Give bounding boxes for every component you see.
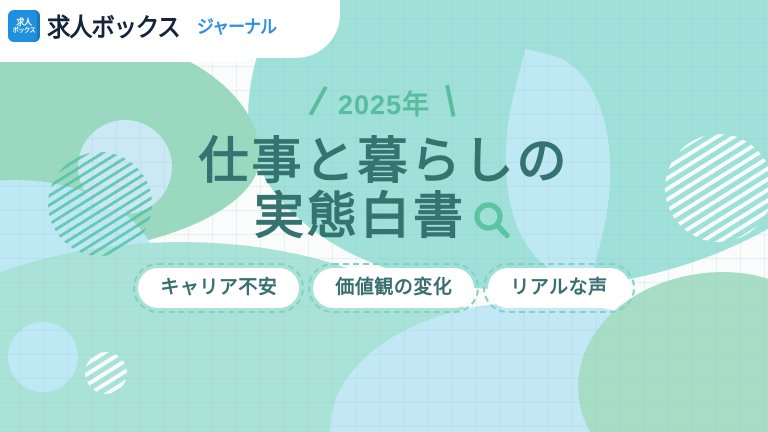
slash-right-decoration: /: [439, 80, 462, 123]
tag-chip-3[interactable]: リアルな声: [488, 268, 629, 308]
tag-chip-2[interactable]: 価値観の変化: [313, 268, 474, 308]
year-label: 2025年: [338, 83, 430, 122]
tag-row: キャリア不安 価値観の変化 リアルな声: [138, 268, 629, 308]
year-row: / 2025年 /: [313, 84, 456, 120]
hero-title-line-1: 仕事と暮らしの: [199, 134, 570, 189]
hero-content: / 2025年 / 仕事と暮らしの 実態白書 キャリア不安 価値観の変化 リアル…: [0, 0, 768, 432]
hero-title: 仕事と暮らしの 実態白書: [199, 134, 570, 244]
tag-chip-1[interactable]: キャリア不安: [138, 268, 299, 308]
magnifier-icon: [470, 199, 514, 243]
hero-title-line-2-row: 実態白書: [199, 189, 570, 244]
slash-left-decoration: /: [306, 80, 329, 123]
banner-canvas: 求人 ボックス 求人ボックス ジャーナル / 2025年 / 仕事と暮らしの 実…: [0, 0, 768, 432]
hero-title-line-2: 実態白書: [254, 189, 466, 244]
